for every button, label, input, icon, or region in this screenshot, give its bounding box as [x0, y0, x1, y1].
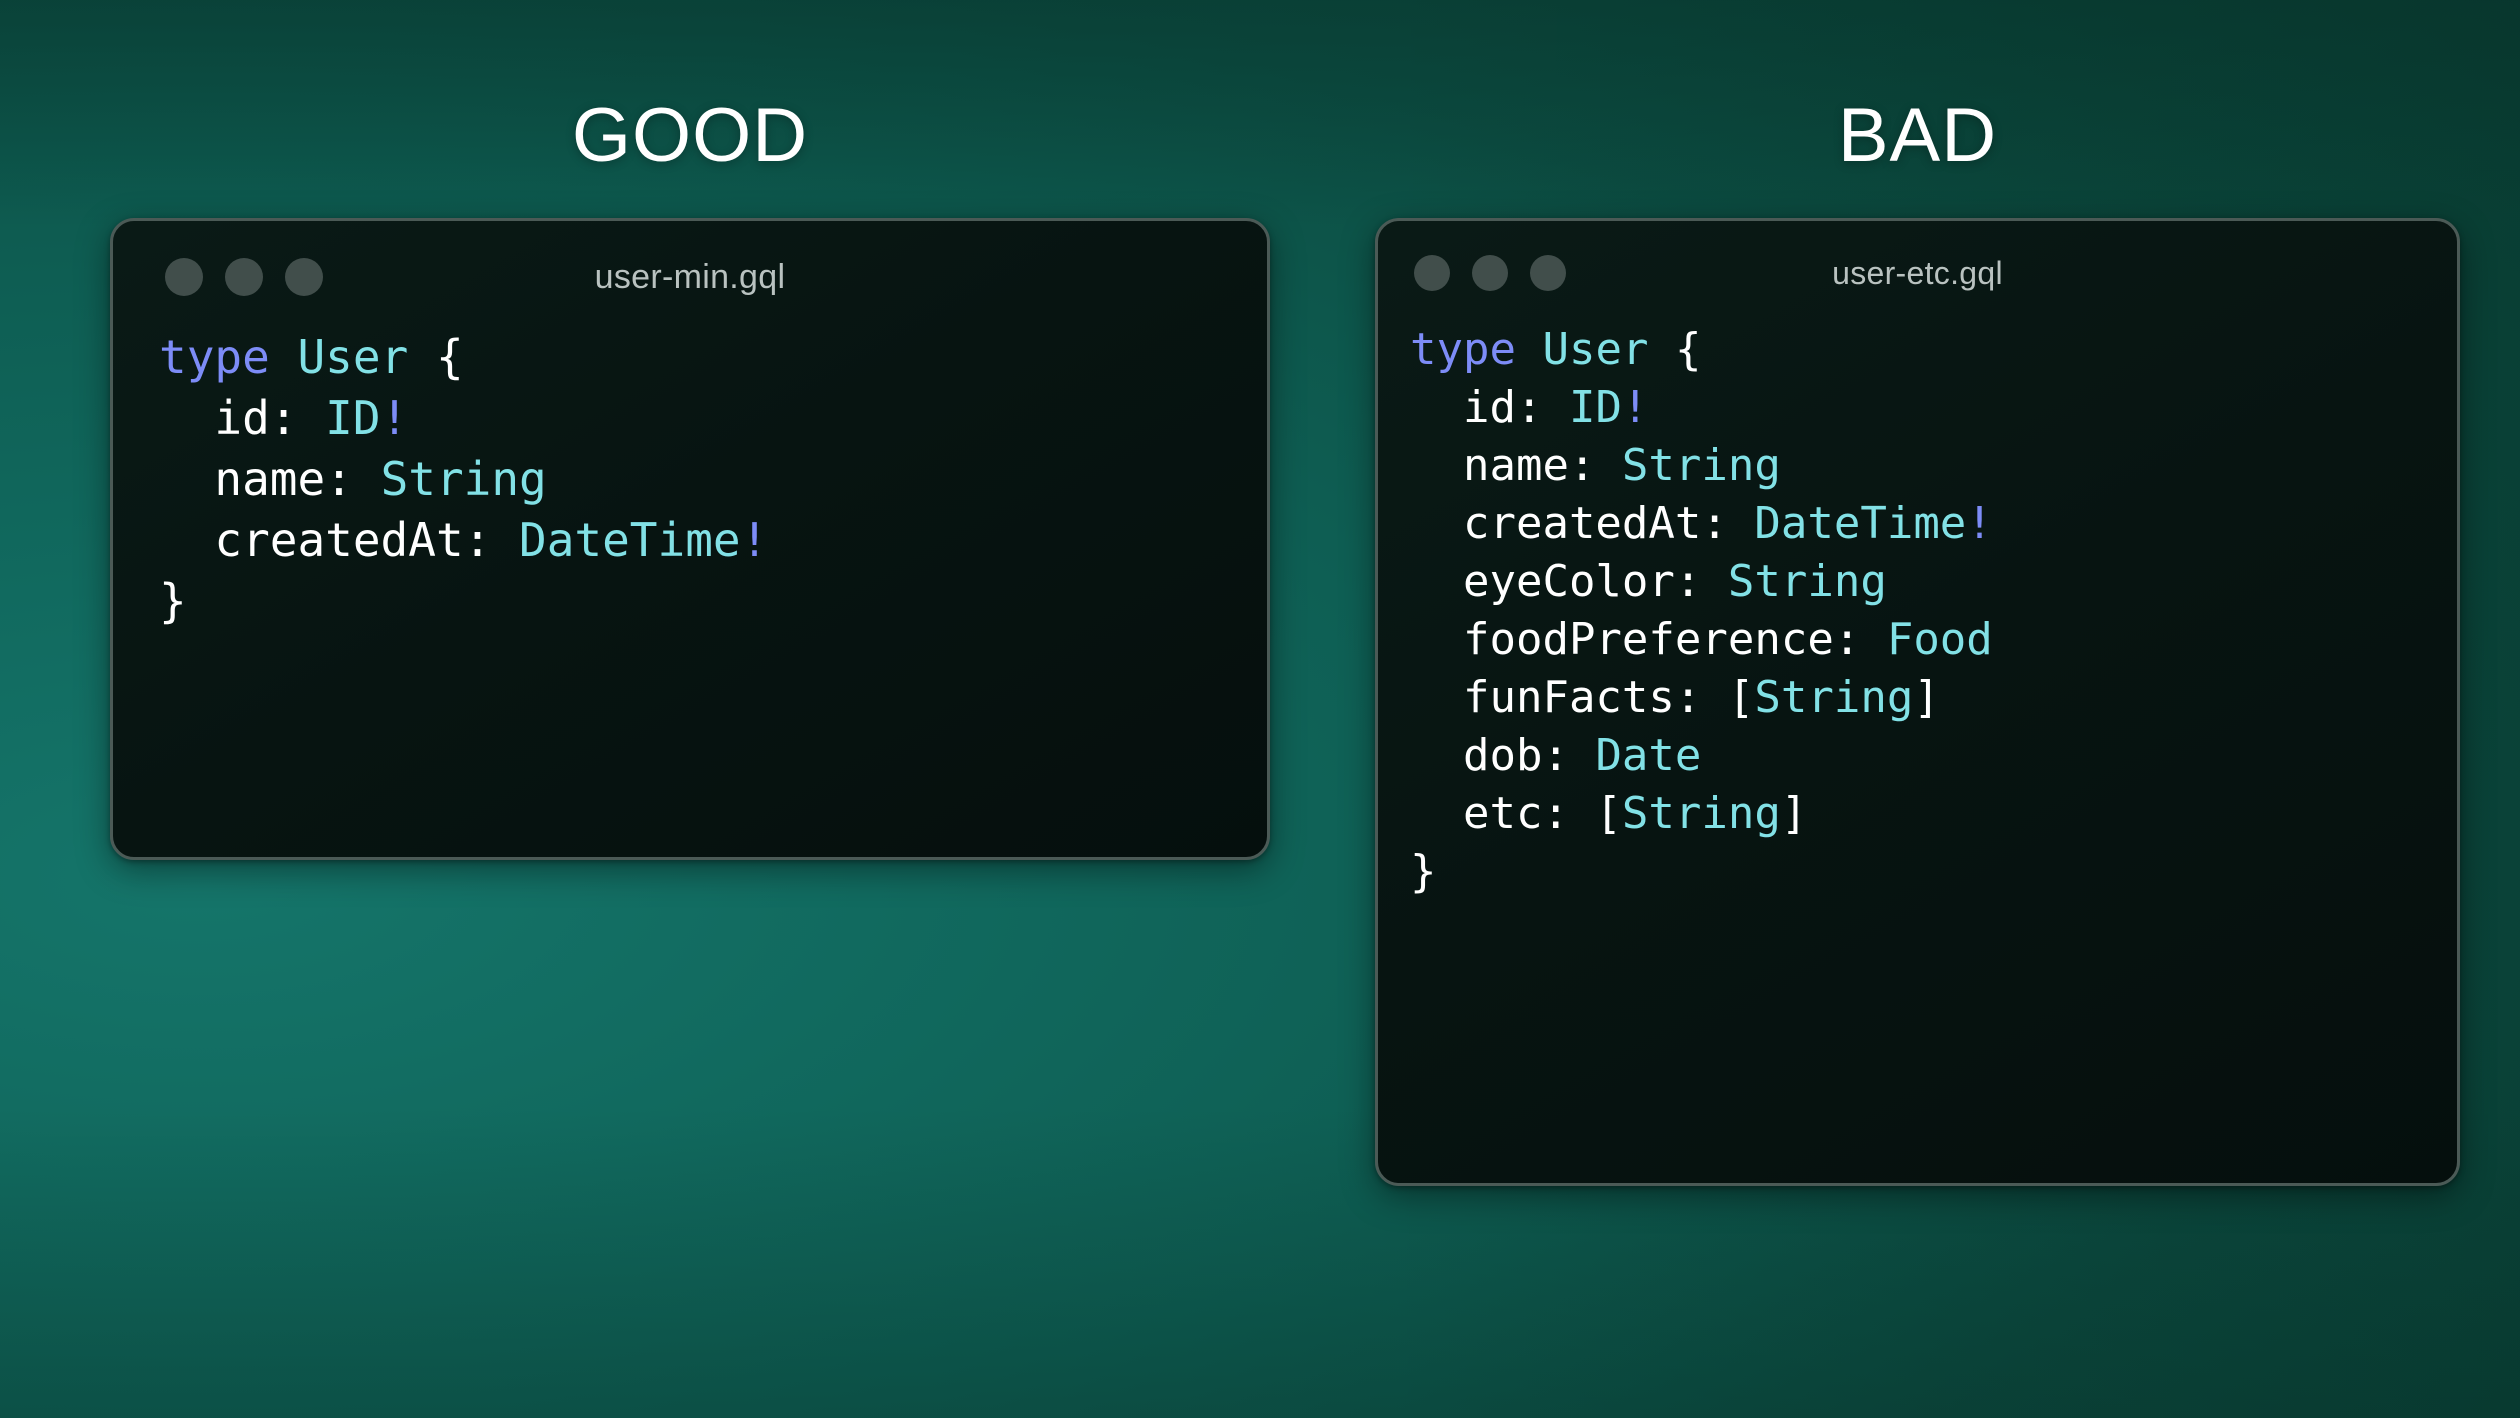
code-line: createdAt: DateTime!: [1410, 495, 2457, 553]
code-token-plain: eyeColor:: [1410, 556, 1728, 607]
code-line: eyeColor: String: [1410, 553, 2457, 611]
code-token-bang: !: [1622, 382, 1649, 433]
code-token-brace: {: [1675, 324, 1702, 375]
minimize-dot-icon[interactable]: [1472, 255, 1508, 291]
code-line: foodPreference: Food: [1410, 611, 2457, 669]
code-block-bad: type User { id: ID! name: String created…: [1378, 321, 2457, 901]
code-window-bad: user-etc.gql type User { id: ID! name: S…: [1375, 218, 2460, 1186]
code-token-plain: createdAt:: [1410, 498, 1754, 549]
code-token-plain: [1648, 324, 1675, 375]
window-titlebar: user-min.gql: [113, 221, 1267, 333]
code-line: type User {: [1410, 321, 2457, 379]
code-token-bang: !: [381, 391, 409, 445]
code-token-brace: }: [159, 574, 187, 628]
code-token-plain: name:: [1410, 440, 1622, 491]
code-line: name: String: [1410, 437, 2457, 495]
code-token-type: User: [1542, 324, 1648, 375]
code-token-type: String: [1728, 556, 1887, 607]
code-token-kw: type: [1410, 324, 1516, 375]
traffic-lights: [165, 258, 323, 296]
code-token-plain: ]: [1781, 788, 1808, 839]
code-token-type: String: [381, 452, 547, 506]
code-token-brace: {: [436, 330, 464, 384]
code-token-plain: [270, 330, 298, 384]
column-heading-bad: BAD: [1375, 98, 2460, 174]
code-token-plain: ]: [1913, 672, 1940, 723]
column-heading-good: GOOD: [110, 98, 1270, 174]
code-window-good: user-min.gql type User { id: ID! name: S…: [110, 218, 1270, 860]
code-token-plain: etc: [: [1410, 788, 1622, 839]
code-line: }: [159, 571, 1267, 632]
code-token-type: DateTime: [1754, 498, 1966, 549]
code-token-type: DateTime: [519, 513, 741, 567]
code-token-plain: name:: [159, 452, 381, 506]
code-token-plain: funFacts: [: [1410, 672, 1754, 723]
code-line: name: String: [159, 449, 1267, 510]
code-line: etc: [String]: [1410, 785, 2457, 843]
maximize-dot-icon[interactable]: [285, 258, 323, 296]
code-token-type: User: [297, 330, 408, 384]
code-token-type: ID: [325, 391, 380, 445]
code-line: id: ID!: [159, 388, 1267, 449]
code-token-plain: createdAt:: [159, 513, 519, 567]
code-token-plain: id:: [1410, 382, 1569, 433]
window-titlebar: user-etc.gql: [1378, 221, 2457, 325]
code-token-bang: !: [741, 513, 769, 567]
code-token-type: ID: [1569, 382, 1622, 433]
code-line: id: ID!: [1410, 379, 2457, 437]
code-token-kw: type: [159, 330, 270, 384]
code-line: funFacts: [String]: [1410, 669, 2457, 727]
code-token-bang: !: [1966, 498, 1993, 549]
code-line: dob: Date: [1410, 727, 2457, 785]
code-line: createdAt: DateTime!: [159, 510, 1267, 571]
code-token-type: String: [1622, 440, 1781, 491]
code-token-type: String: [1754, 672, 1913, 723]
minimize-dot-icon[interactable]: [225, 258, 263, 296]
code-token-type: Food: [1887, 614, 1993, 665]
code-token-plain: foodPreference:: [1410, 614, 1887, 665]
code-token-brace: }: [1410, 846, 1437, 897]
code-token-type: Date: [1595, 730, 1701, 781]
code-token-plain: id:: [159, 391, 325, 445]
close-dot-icon[interactable]: [1414, 255, 1450, 291]
code-token-plain: [1516, 324, 1543, 375]
code-token-plain: dob:: [1410, 730, 1595, 781]
code-token-plain: [408, 330, 436, 384]
code-line: type User {: [159, 327, 1267, 388]
maximize-dot-icon[interactable]: [1530, 255, 1566, 291]
code-token-type: String: [1622, 788, 1781, 839]
code-block-good: type User { id: ID! name: String created…: [113, 327, 1267, 632]
close-dot-icon[interactable]: [165, 258, 203, 296]
traffic-lights: [1414, 255, 1566, 291]
code-line: }: [1410, 843, 2457, 901]
